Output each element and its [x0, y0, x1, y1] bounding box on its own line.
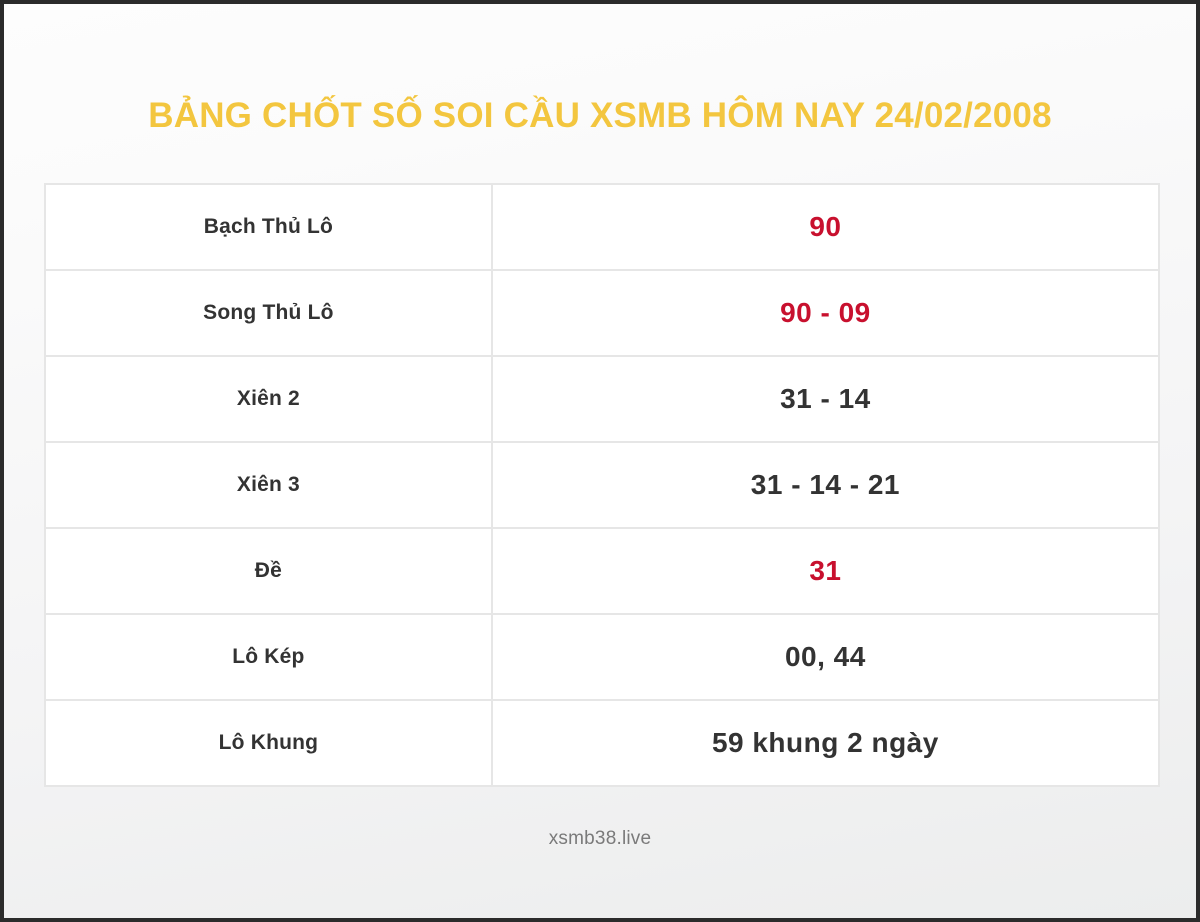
row-label-cell: Lô Kép [45, 614, 492, 700]
row-value-cell: 31 [492, 528, 1159, 614]
table-row: Lô Khung59 khung 2 ngày [45, 700, 1159, 786]
row-value: 59 khung 2 ngày [712, 727, 939, 758]
prediction-table: Bạch Thủ Lô90Song Thủ Lô90 - 09Xiên 231 … [44, 183, 1160, 787]
row-value-cell: 90 [492, 184, 1159, 270]
row-value: 31 [809, 555, 841, 586]
page-container: BẢNG CHỐT SỐ SOI CẦU XSMB HÔM NAY 24/02/… [4, 4, 1196, 918]
row-label-cell: Bạch Thủ Lô [45, 184, 492, 270]
row-value: 31 - 14 - 21 [751, 469, 900, 500]
row-value: 90 - 09 [780, 297, 871, 328]
page-title: BẢNG CHỐT SỐ SOI CẦU XSMB HÔM NAY 24/02/… [4, 96, 1196, 136]
prediction-table-body: Bạch Thủ Lô90Song Thủ Lô90 - 09Xiên 231 … [45, 184, 1159, 786]
table-row: Song Thủ Lô90 - 09 [45, 270, 1159, 356]
row-value: 00, 44 [785, 641, 866, 672]
row-value-cell: 31 - 14 - 21 [492, 442, 1159, 528]
table-row: Bạch Thủ Lô90 [45, 184, 1159, 270]
row-value-cell: 90 - 09 [492, 270, 1159, 356]
row-label: Song Thủ Lô [203, 301, 334, 324]
row-label-cell: Song Thủ Lô [45, 270, 492, 356]
row-value: 31 - 14 [780, 383, 871, 414]
row-value-cell: 59 khung 2 ngày [492, 700, 1159, 786]
row-label-cell: Xiên 2 [45, 356, 492, 442]
row-label-cell: Lô Khung [45, 700, 492, 786]
row-label: Lô Khung [219, 731, 319, 754]
table-row: Xiên 231 - 14 [45, 356, 1159, 442]
row-value-cell: 00, 44 [492, 614, 1159, 700]
row-value: 90 [809, 211, 841, 242]
row-label: Lô Kép [232, 645, 304, 668]
table-row: Xiên 331 - 14 - 21 [45, 442, 1159, 528]
table-row: Đề31 [45, 528, 1159, 614]
row-value-cell: 31 - 14 [492, 356, 1159, 442]
row-label-cell: Xiên 3 [45, 442, 492, 528]
row-label: Bạch Thủ Lô [204, 215, 333, 238]
table-row: Lô Kép00, 44 [45, 614, 1159, 700]
row-label-cell: Đề [45, 528, 492, 614]
row-label: Đề [255, 559, 282, 582]
site-watermark: xsmb38.live [4, 828, 1196, 850]
row-label: Xiên 2 [237, 387, 300, 410]
row-label: Xiên 3 [237, 473, 300, 496]
